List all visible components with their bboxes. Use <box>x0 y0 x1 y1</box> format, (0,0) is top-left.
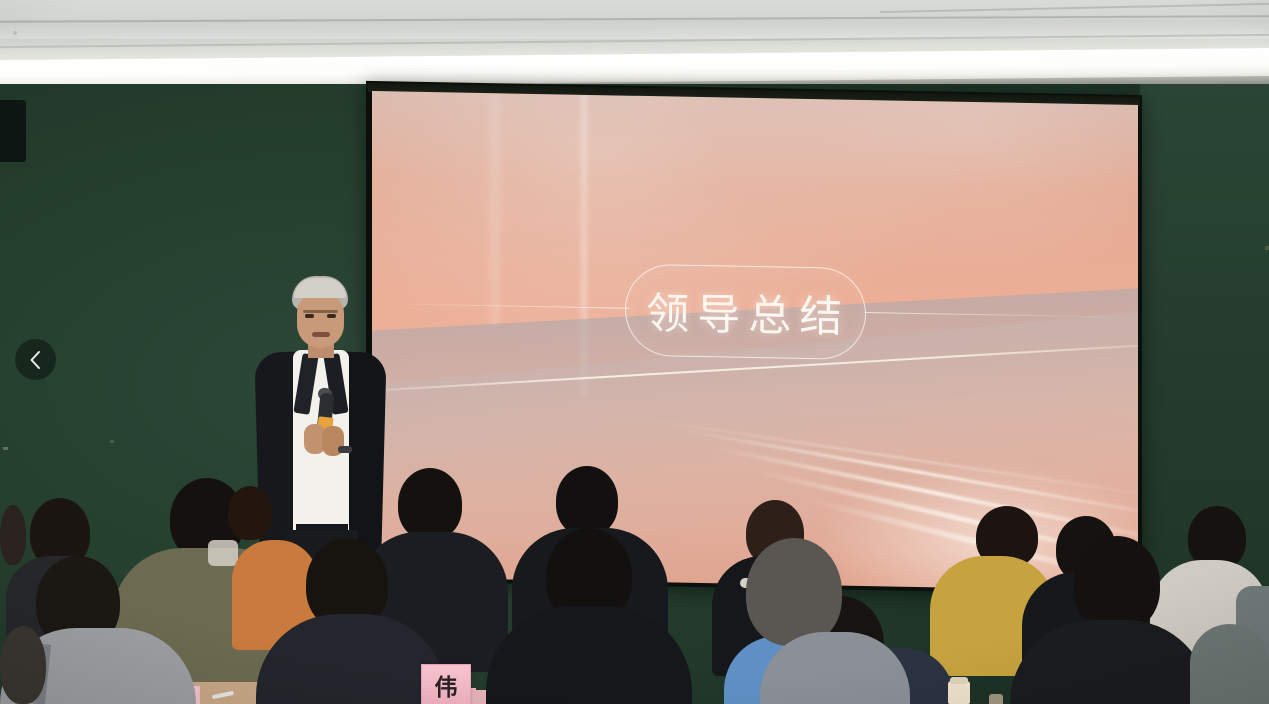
attendee-head <box>0 626 46 704</box>
projector-light-band <box>487 93 503 327</box>
slide-title: 领导总结 <box>640 279 850 345</box>
chevron-left-icon <box>28 349 43 371</box>
attendee-head <box>398 468 462 540</box>
name-placard: 伟 <box>421 664 471 704</box>
wall-mark <box>110 440 114 443</box>
presenter <box>248 276 388 576</box>
presenter-watch <box>338 446 352 453</box>
presenter-mouth <box>312 332 330 337</box>
previous-slide-button[interactable] <box>15 339 56 380</box>
wall-mark <box>3 447 8 450</box>
presenter-eye <box>305 314 314 318</box>
attendee-head <box>746 538 842 646</box>
attendee-mask <box>208 540 238 566</box>
water-bottle <box>948 681 970 704</box>
ceiling-seam <box>0 34 1269 48</box>
presenter-face <box>297 292 344 348</box>
name-placard-text: 伟 <box>435 668 458 702</box>
attendee-head <box>0 505 26 565</box>
water-bottle-cap <box>950 677 968 684</box>
presentation-photo-viewer: 领导总结 <box>0 0 1269 704</box>
attendee-body <box>1190 624 1269 704</box>
presenter-brow <box>303 310 338 313</box>
attendee-head <box>228 486 272 540</box>
ceiling-fixture-screw <box>13 31 17 35</box>
presenter-eye <box>327 314 336 318</box>
wall-mark <box>1265 246 1269 250</box>
slide-title-pill: 领导总结 <box>625 263 866 359</box>
attendee-head <box>1074 536 1160 632</box>
ceiling-seam <box>880 3 1269 13</box>
cup <box>989 694 1003 704</box>
attendee-head <box>556 466 618 536</box>
ceiling-seam <box>0 15 1269 23</box>
wall-speaker-box <box>0 100 26 162</box>
